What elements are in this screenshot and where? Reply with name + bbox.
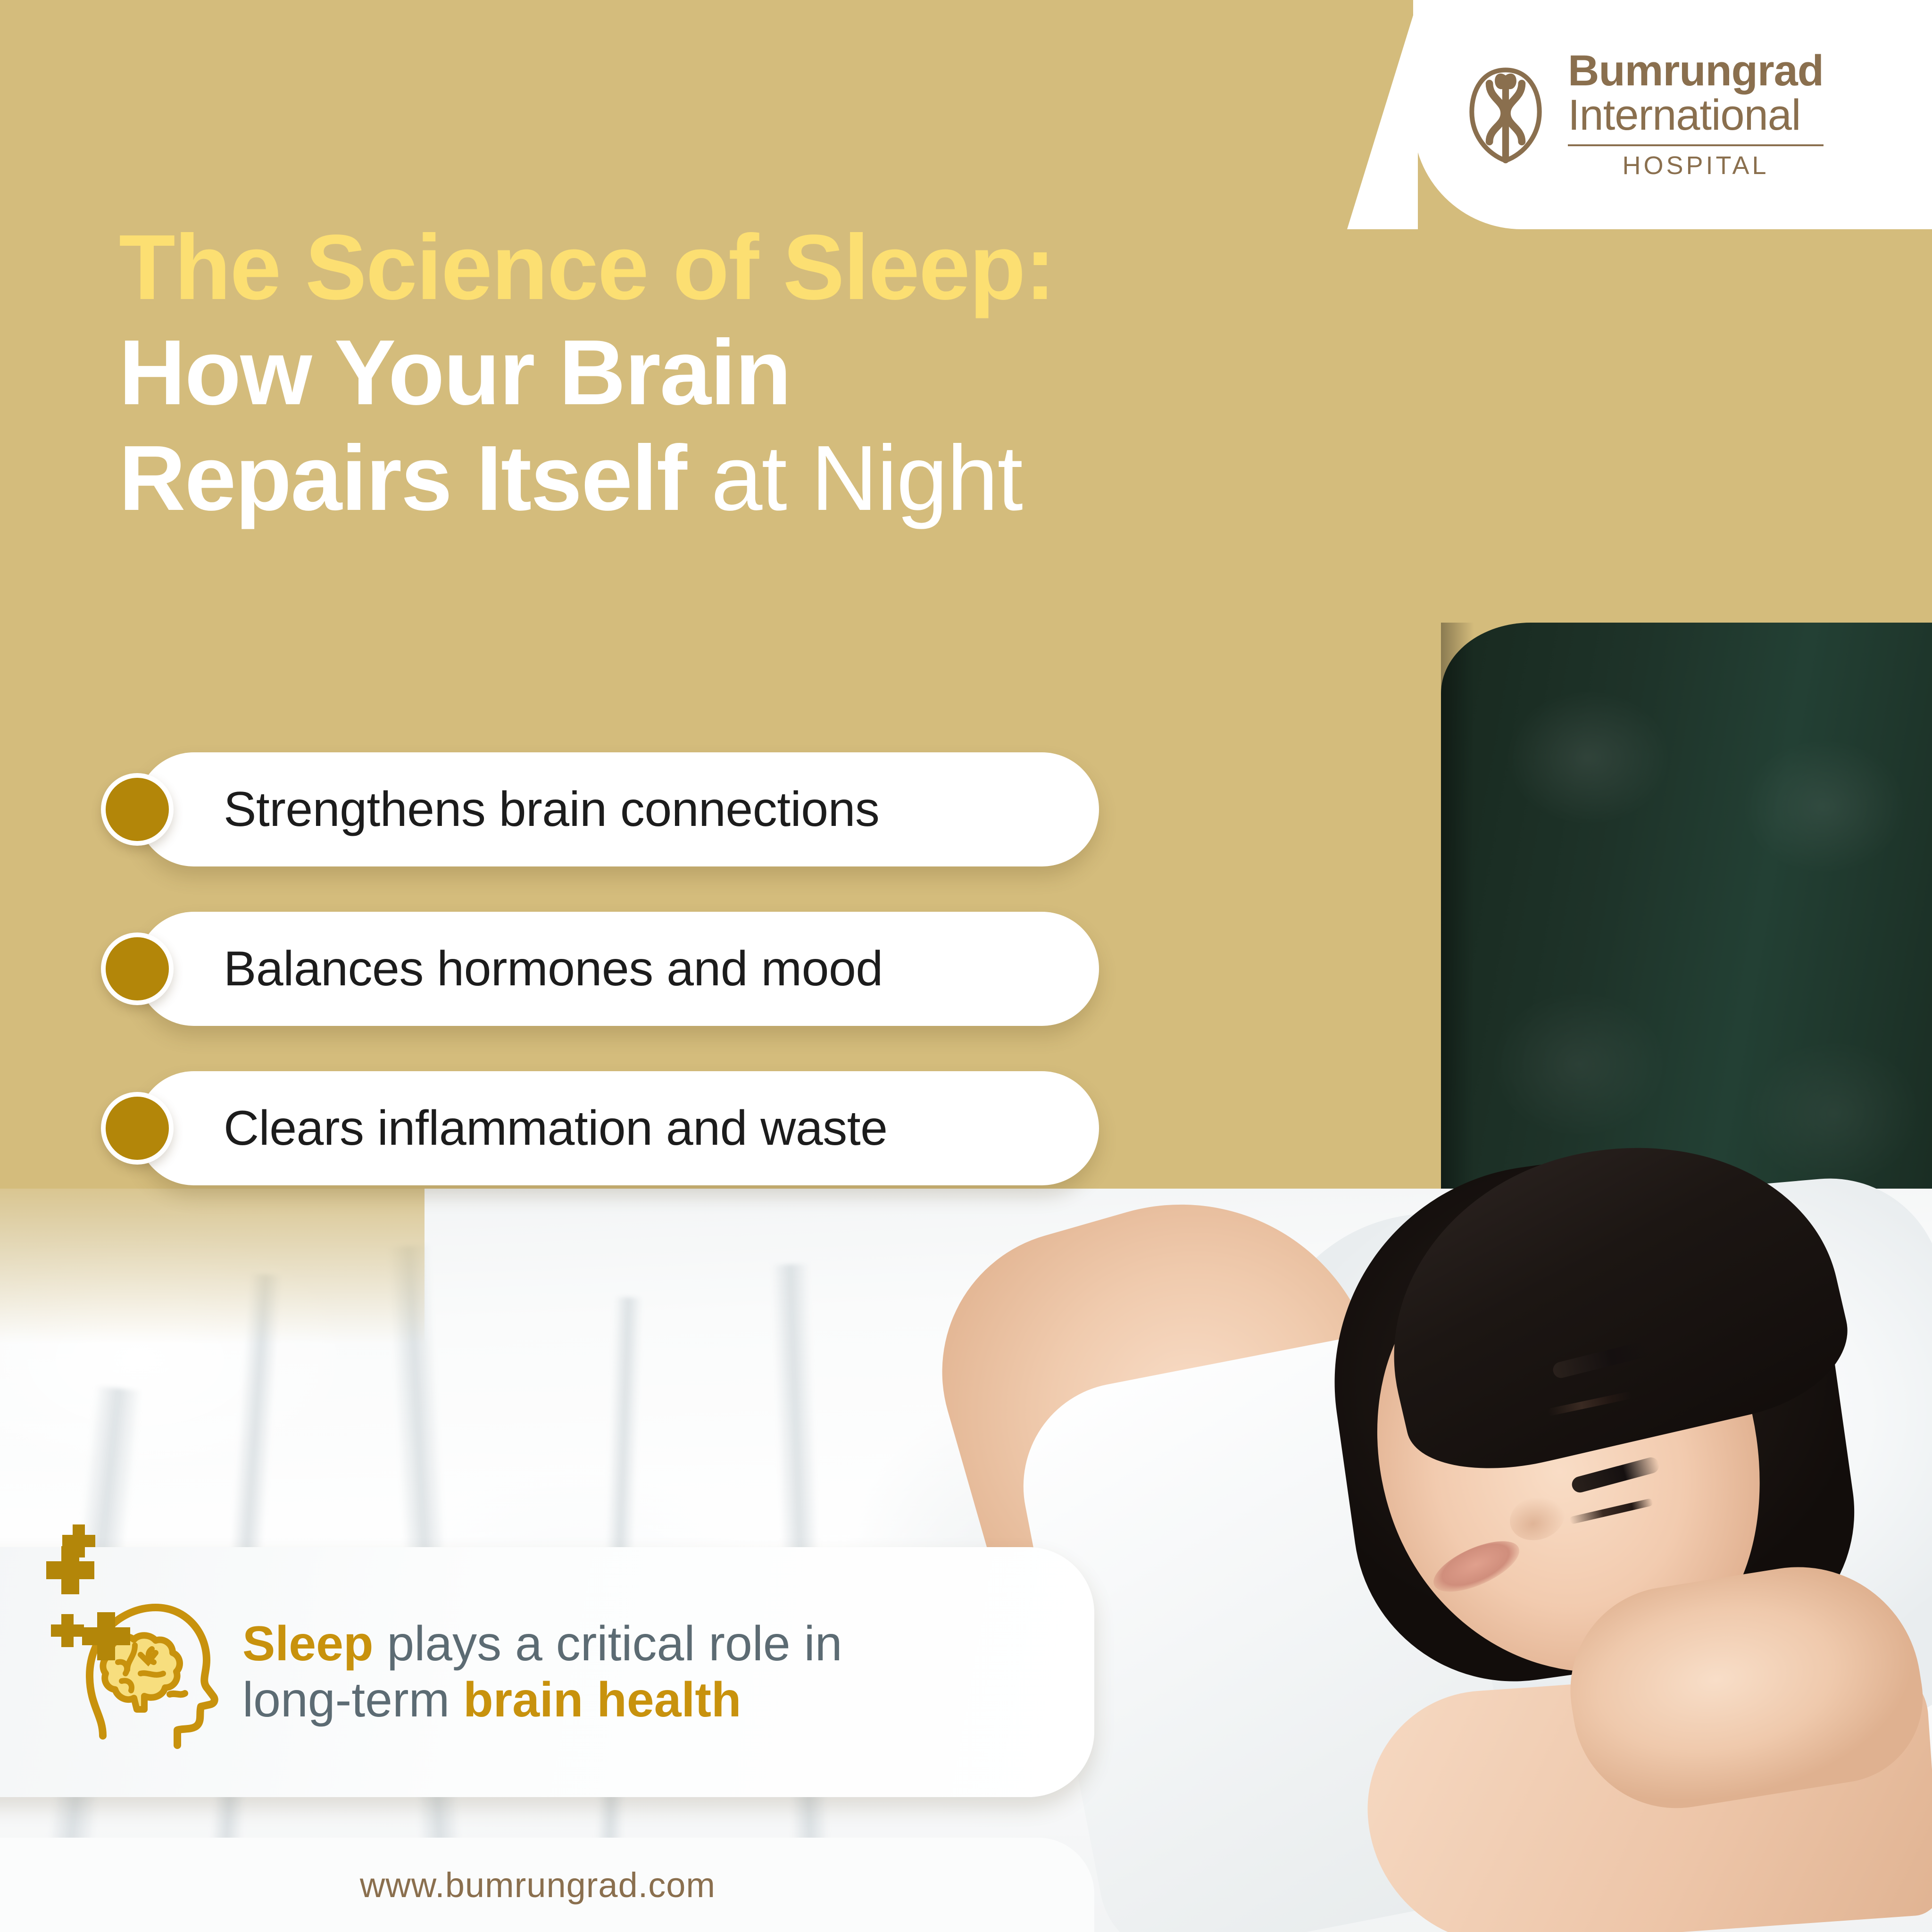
list-item[interactable]: Strengthens brain connections — [137, 752, 1099, 866]
footer-bar: www.bumrungrad.com — [0, 1838, 1094, 1932]
banner-line-2: long-term brain health — [242, 1672, 842, 1728]
infographic-poster: Bumrungrad International HOSPITAL The Sc… — [0, 0, 1932, 1932]
brand-subtitle: International — [1568, 92, 1824, 138]
banner-text: Sleep plays a critical role in long-term… — [242, 1616, 842, 1728]
headline-bold-part: Repairs Itself — [119, 426, 686, 530]
headline-line-1: The Science of Sleep: — [119, 215, 1534, 320]
caduceus-icon — [1465, 60, 1546, 169]
list-item-label: Strengthens brain connections — [224, 782, 879, 838]
banner-brain-health-word: brain health — [463, 1673, 741, 1727]
banner-line-1-rest: plays a critical role in — [373, 1616, 842, 1671]
brand-name: Bumrungrad — [1568, 49, 1824, 92]
brand-type: HOSPITAL — [1568, 151, 1824, 180]
bullet-dot-icon — [101, 933, 174, 1005]
website-url[interactable]: www.bumrungrad.com — [360, 1865, 716, 1905]
headline-line-2: How Your Brain — [119, 320, 1534, 425]
banner-sleep-word: Sleep — [242, 1616, 373, 1671]
banner-line-2-lead: long-term — [242, 1673, 463, 1727]
list-item[interactable]: Clears inflammation and waste — [137, 1071, 1099, 1185]
brand-logo-badge: Bumrungrad International HOSPITAL — [1413, 0, 1932, 229]
bullet-dot-icon — [101, 1092, 174, 1165]
bullet-dot-icon — [101, 773, 174, 846]
benefits-list: Strengthens brain connections Balances h… — [137, 752, 1099, 1231]
banner-line-1: Sleep plays a critical role in — [242, 1616, 842, 1672]
page-title: The Science of Sleep: How Your Brain Rep… — [119, 215, 1534, 531]
list-item-label: Balances hormones and mood — [224, 941, 883, 997]
list-item-label: Clears inflammation and waste — [224, 1100, 887, 1157]
headline-light-part: at Night — [686, 426, 1022, 530]
list-item[interactable]: Balances hormones and mood — [137, 912, 1099, 1026]
logo-divider — [1568, 144, 1824, 146]
headline-line-3: Repairs Itself at Night — [119, 425, 1534, 531]
sparkle-plus-icon — [33, 1524, 175, 1666]
